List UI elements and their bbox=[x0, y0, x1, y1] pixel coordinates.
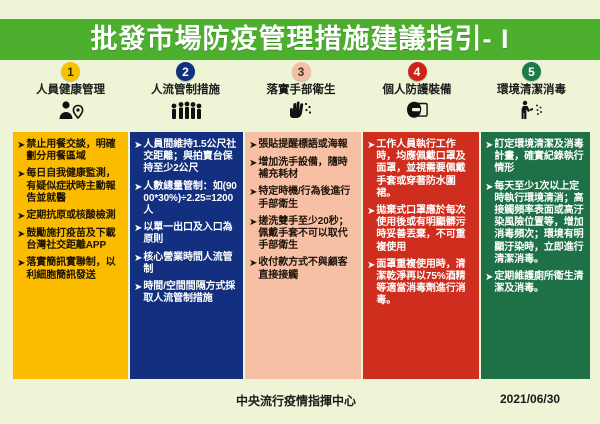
list-item-text: 人員間維持1.5公尺社交距離；與拍賣台保持至少2公尺 bbox=[143, 139, 238, 176]
list-item: ➤拋棄式口罩應於每次使用後或有明顯髒污時妥善丟棄，不可重複使用 bbox=[367, 205, 474, 254]
list-item-text: 增加洗手設備，隨時補充耗材 bbox=[258, 157, 356, 181]
column-title-4: 個人防護裝備 bbox=[383, 84, 452, 97]
list-item-text: 定期維護廁所衛生清潔及消毒。 bbox=[494, 271, 585, 295]
list-item-text: 面罩重複使用時，清潔乾淨再以75%酒精等適當消毒劑進行消毒。 bbox=[376, 259, 474, 308]
crowd-control-icon bbox=[170, 99, 202, 121]
bullet-icon: ➤ bbox=[367, 259, 375, 272]
column-header-row: 1 人員健康管理 2 人流管制措施 bbox=[13, 62, 588, 132]
panel-crowd-control: ➤人員間維持1.5公尺社交距離；與拍賣台保持至少2公尺 ➤人數總量管制：如(90… bbox=[130, 132, 243, 379]
list-item: ➤人員間維持1.5公尺社交距離；與拍賣台保持至少2公尺 bbox=[134, 139, 238, 176]
list-item: ➤時間/空間間隔方式採取人流管制措施 bbox=[134, 281, 238, 305]
footer-organization: 中央流行疫情指揮中心 bbox=[236, 392, 356, 409]
list-item: ➤收付款方式不與顧客直接接觸 bbox=[249, 257, 356, 281]
bullet-icon: ➤ bbox=[249, 186, 257, 199]
list-item-text: 工作人員執行工作時，均應佩戴口罩及面罩，並視需要佩戴手套或穿著防水圍裙。 bbox=[376, 139, 474, 200]
column-header-2: 2 人流管制措施 bbox=[128, 62, 243, 132]
face-shield-icon bbox=[404, 99, 430, 121]
list-item: ➤面罩重複使用時，清潔乾淨再以75%酒精等適當消毒劑進行消毒。 bbox=[367, 259, 474, 308]
list-item: ➤鼓勵施打疫苗及下載台灣社交距離APP bbox=[17, 228, 123, 252]
list-item: ➤核心營業時間人流管制 bbox=[134, 252, 238, 276]
column-title-2: 人流管制措施 bbox=[151, 84, 220, 97]
list-item-text: 搓洗雙手至少20秒；佩戴手套不可以取代手部衛生 bbox=[258, 216, 356, 253]
list-item: ➤人數總量管制：如(9000*30%)÷2.25=1200人 bbox=[134, 181, 238, 218]
column-title-1: 人員健康管理 bbox=[36, 84, 105, 97]
bullet-icon: ➤ bbox=[17, 210, 25, 223]
list-item: ➤每天至少1次以上定時執行環境清消；高接觸頻率表面或高汙染風險位置等，增加消毒頻… bbox=[485, 181, 585, 266]
step-badge-4: 4 bbox=[408, 62, 427, 81]
bullet-icon: ➤ bbox=[249, 139, 257, 152]
list-item: ➤工作人員執行工作時，均應佩戴口罩及面罩，並視需要佩戴手套或穿著防水圍裙。 bbox=[367, 139, 474, 200]
bullet-icon: ➤ bbox=[249, 216, 257, 229]
person-location-icon bbox=[58, 99, 84, 121]
list-item-text: 每日自我健康監測，有疑似症狀時主動報告並就醫 bbox=[26, 168, 123, 205]
bullet-icon: ➤ bbox=[134, 181, 142, 194]
list-item-text: 落實簡訊實聯制，以利細胞簡訊發送 bbox=[26, 257, 123, 281]
panel-hand-hygiene: ➤張貼提醒標語或海報 ➤增加洗手設備，隨時補充耗材 ➤特定時機/行為後進行手部衛… bbox=[245, 132, 361, 379]
list-item: ➤每日自我健康監測，有疑似症狀時主動報告並就醫 bbox=[17, 168, 123, 205]
disinfect-spray-icon bbox=[519, 99, 545, 121]
list-item-text: 每天至少1次以上定時執行環境清消；高接觸頻率表面或高汙染風險位置等，增加消毒頻次… bbox=[494, 181, 585, 266]
footer: 中央流行疫情指揮中心 2021/06/30 bbox=[0, 392, 600, 414]
panel-environment-disinfection: ➤訂定環境清潔及消毒計畫，確實紀錄執行情形 ➤每天至少1次以上定時執行環境清消；… bbox=[481, 132, 590, 379]
bullet-icon: ➤ bbox=[485, 181, 493, 194]
list-item-text: 時間/空間間隔方式採取人流管制措施 bbox=[143, 281, 238, 305]
bullet-icon: ➤ bbox=[17, 228, 25, 241]
bullet-icon: ➤ bbox=[485, 139, 493, 152]
list-item-text: 定期抗原或核酸檢測 bbox=[26, 210, 123, 222]
list-item: ➤定期抗原或核酸檢測 bbox=[17, 210, 123, 223]
list-item: ➤特定時機/行為後進行手部衛生 bbox=[249, 186, 356, 210]
bullet-icon: ➤ bbox=[485, 271, 493, 284]
list-item-text: 以單一出口及入口為原則 bbox=[143, 222, 238, 246]
list-item-text: 人數總量管制：如(9000*30%)÷2.25=1200人 bbox=[143, 181, 238, 218]
bullet-icon: ➤ bbox=[17, 257, 25, 270]
page-title: 批發市場防疫管理措施建議指引- I bbox=[91, 26, 510, 53]
bullet-icon: ➤ bbox=[134, 222, 142, 235]
column-title-5: 環境清潔消毒 bbox=[497, 84, 566, 97]
step-badge-5: 5 bbox=[522, 62, 541, 81]
bullet-icon: ➤ bbox=[249, 157, 257, 170]
column-header-5: 5 環境清潔消毒 bbox=[475, 62, 588, 132]
footer-date: 2021/06/30 bbox=[500, 392, 560, 406]
list-item-text: 張貼提醒標語或海報 bbox=[258, 139, 356, 151]
list-item-text: 收付款方式不與顧客直接接觸 bbox=[258, 257, 356, 281]
panel-ppe: ➤工作人員執行工作時，均應佩戴口罩及面罩，並視需要佩戴手套或穿著防水圍裙。 ➤拋… bbox=[363, 132, 479, 379]
bullet-icon: ➤ bbox=[17, 139, 25, 152]
column-header-4: 4 個人防護裝備 bbox=[359, 62, 475, 132]
handwash-icon bbox=[289, 99, 313, 121]
list-item-text: 拋棄式口罩應於每次使用後或有明顯髒污時妥善丟棄，不可重複使用 bbox=[376, 205, 474, 254]
list-item: ➤搓洗雙手至少20秒；佩戴手套不可以取代手部衛生 bbox=[249, 216, 356, 253]
content-columns: ➤禁止用餐交談，明確劃分用餐區域 ➤每日自我健康監測，有疑似症狀時主動報告並就醫… bbox=[13, 132, 588, 379]
title-bar: 批發市場防疫管理措施建議指引- I bbox=[0, 19, 600, 60]
list-item-text: 核心營業時間人流管制 bbox=[143, 252, 238, 276]
column-title-3: 落實手部衛生 bbox=[267, 84, 336, 97]
bullet-icon: ➤ bbox=[367, 205, 375, 218]
step-badge-1: 1 bbox=[61, 62, 80, 81]
list-item: ➤張貼提醒標語或海報 bbox=[249, 139, 356, 152]
list-item: ➤禁止用餐交談，明確劃分用餐區域 bbox=[17, 139, 123, 163]
panel-health-management: ➤禁止用餐交談，明確劃分用餐區域 ➤每日自我健康監測，有疑似症狀時主動報告並就醫… bbox=[13, 132, 128, 379]
step-badge-3: 3 bbox=[292, 62, 311, 81]
list-item: ➤定期維護廁所衛生清潔及消毒。 bbox=[485, 271, 585, 295]
step-badge-2: 2 bbox=[176, 62, 195, 81]
bullet-icon: ➤ bbox=[17, 168, 25, 181]
column-header-1: 1 人員健康管理 bbox=[13, 62, 128, 132]
list-item: ➤訂定環境清潔及消毒計畫，確實紀錄執行情形 bbox=[485, 139, 585, 176]
list-item-text: 鼓勵施打疫苗及下載台灣社交距離APP bbox=[26, 228, 123, 252]
bullet-icon: ➤ bbox=[134, 139, 142, 152]
bullet-icon: ➤ bbox=[249, 257, 257, 270]
poster-root: 批發市場防疫管理措施建議指引- I 1 人員健康管理 2 人流管制措施 bbox=[0, 0, 600, 424]
list-item: ➤以單一出口及入口為原則 bbox=[134, 222, 238, 246]
list-item: ➤落實簡訊實聯制，以利細胞簡訊發送 bbox=[17, 257, 123, 281]
bullet-icon: ➤ bbox=[367, 139, 375, 152]
column-header-3: 3 落實手部衛生 bbox=[243, 62, 359, 132]
list-item-text: 訂定環境清潔及消毒計畫，確實紀錄執行情形 bbox=[494, 139, 585, 176]
list-item-text: 特定時機/行為後進行手部衛生 bbox=[258, 186, 356, 210]
bullet-icon: ➤ bbox=[134, 252, 142, 265]
bullet-icon: ➤ bbox=[134, 281, 142, 294]
list-item-text: 禁止用餐交談，明確劃分用餐區域 bbox=[26, 139, 123, 163]
list-item: ➤增加洗手設備，隨時補充耗材 bbox=[249, 157, 356, 181]
